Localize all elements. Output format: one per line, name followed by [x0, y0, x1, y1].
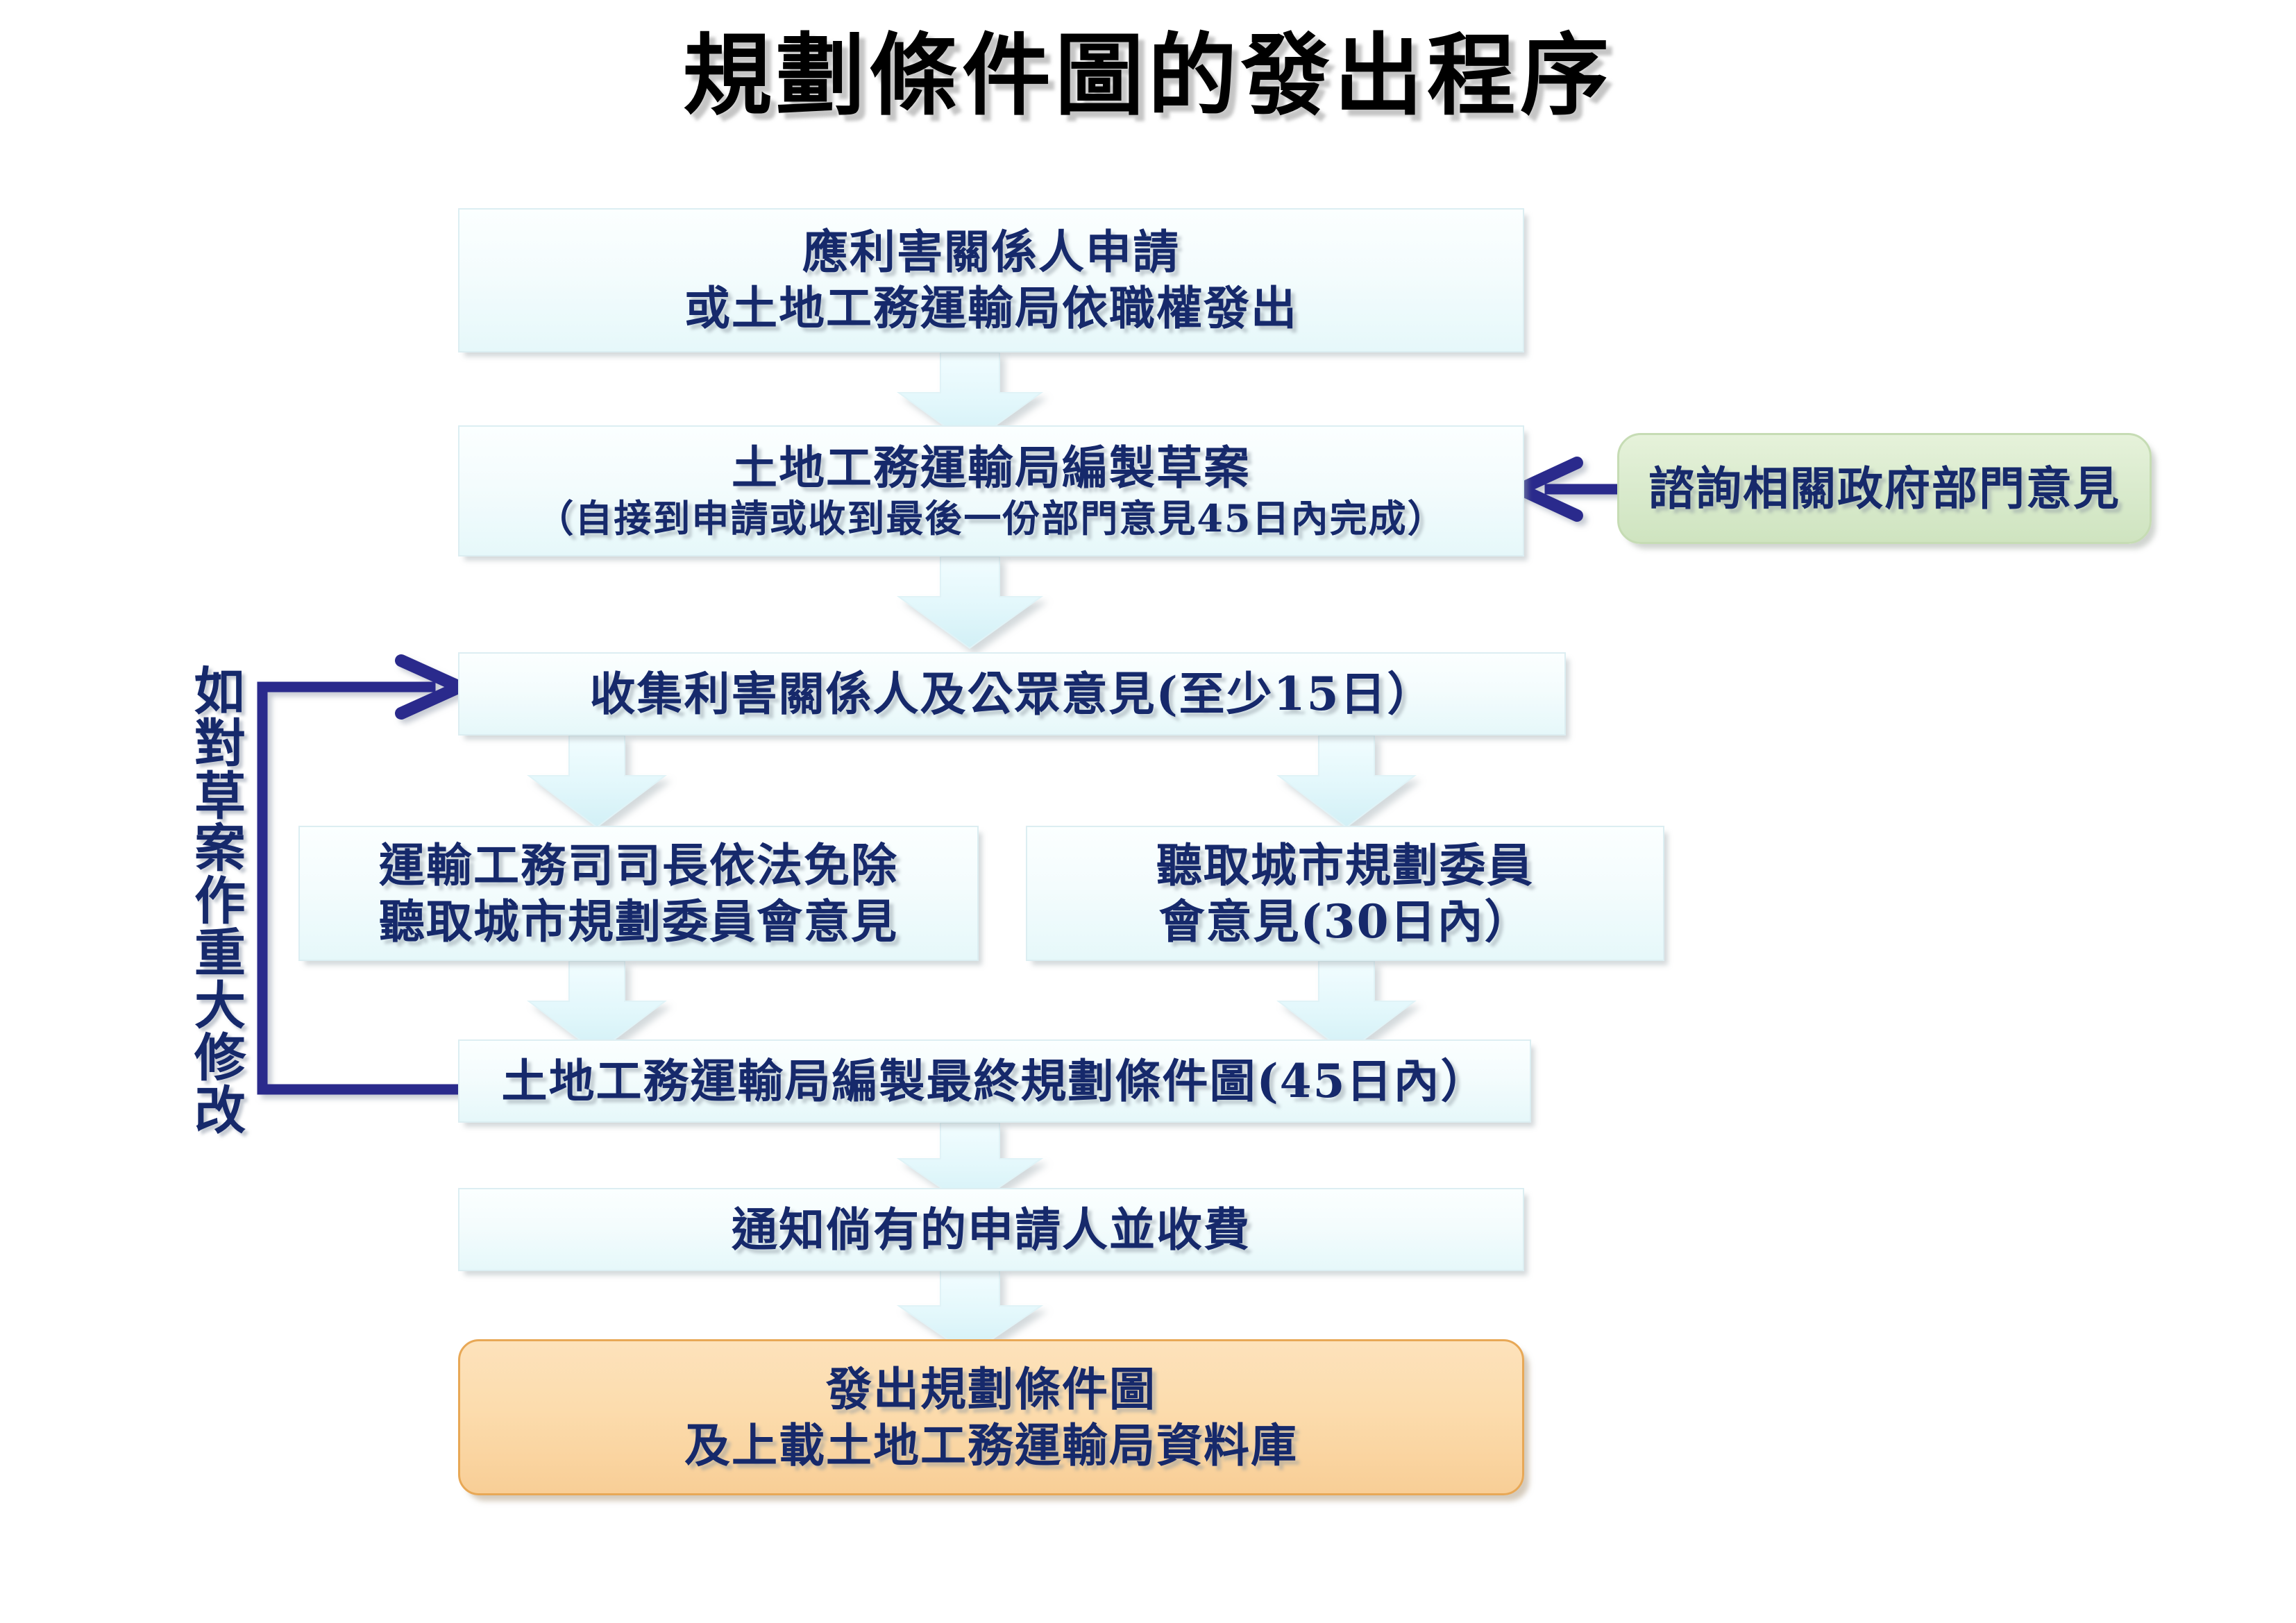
process-box-step4-right[interactable]: 聽取城市規劃委員 會意見(30日內）: [1026, 826, 1664, 961]
process-box-step3[interactable]: 收集利害關係人及公眾意見(至少15日）: [458, 652, 1566, 736]
arrow-step3-to-step4-left: [529, 736, 665, 827]
step5-line1: 土地工務運輸局編製最終規劃條件圖(45日內）: [501, 1053, 1487, 1110]
process-box-step5[interactable]: 土地工務運輸局編製最終規劃條件圖(45日內）: [458, 1039, 1531, 1123]
process-box-step2[interactable]: 土地工務運輸局編製草案 （自接到申請或收到最後一份部門意見45日內完成）: [458, 425, 1524, 556]
feedback-char-3: 案: [182, 823, 258, 875]
feedback-loop-label: 如 對 草 案 作 重 大 修 改: [182, 666, 258, 1137]
step1-line1: 應利害關係人申請: [802, 224, 1180, 280]
step4-left-line2: 聽取城市規劃委員會意見: [379, 894, 898, 950]
feedback-char-4: 作: [182, 876, 258, 928]
step7-line1: 發出規劃條件圖: [826, 1361, 1156, 1418]
step6-line1: 通知倘有的申請人並收費: [732, 1202, 1251, 1258]
step3-line1: 收集利害關係人及公眾意見(至少15日）: [589, 666, 1434, 722]
consult-box[interactable]: 諮詢相關政府部門意見: [1617, 433, 2152, 544]
feedback-char-8: 改: [182, 1085, 258, 1137]
step2-line1: 土地工務運輸局編製草案: [732, 440, 1251, 496]
consult-line1: 諮詢相關政府部門意見: [1648, 461, 2120, 517]
step1-line2: 或土地工務運輸局依職權發出: [684, 280, 1298, 337]
feedback-char-0: 如: [182, 666, 258, 718]
feedback-char-7: 修: [182, 1033, 258, 1085]
arrow-step3-to-step4-right: [1278, 736, 1415, 827]
feedback-char-1: 對: [182, 718, 258, 770]
arrow-consult-to-step2: [1520, 463, 1617, 516]
feedback-char-5: 重: [182, 928, 258, 980]
arrow-step2-to-step3: [899, 556, 1041, 648]
step4-left-line1: 運輸工務司司長依法免除: [379, 838, 898, 894]
process-box-step6[interactable]: 通知倘有的申請人並收費: [458, 1188, 1524, 1271]
process-box-step4-left[interactable]: 運輸工務司司長依法免除 聽取城市規劃委員會意見: [298, 826, 979, 961]
step2-line2: （自接到申請或收到最後一份部門意見45日內完成）: [536, 496, 1446, 542]
step4-right-line1: 聽取城市規劃委員: [1156, 838, 1534, 894]
page-title: 規劃條件圖的發出程序: [0, 28, 2296, 126]
flowchart-canvas: 規劃條件圖的發出程序: [0, 0, 2296, 1623]
step7-line2: 及上載土地工務運輸局資料庫: [684, 1418, 1298, 1474]
process-box-step1[interactable]: 應利害關係人申請 或土地工務運輸局依職權發出: [458, 208, 1524, 352]
feedback-char-2: 草: [182, 771, 258, 823]
process-box-step7[interactable]: 發出規劃條件圖 及上載土地工務運輸局資料庫: [458, 1339, 1524, 1495]
feedback-char-6: 大: [182, 980, 258, 1033]
step4-right-line2: 會意見(30日內）: [1158, 894, 1531, 950]
